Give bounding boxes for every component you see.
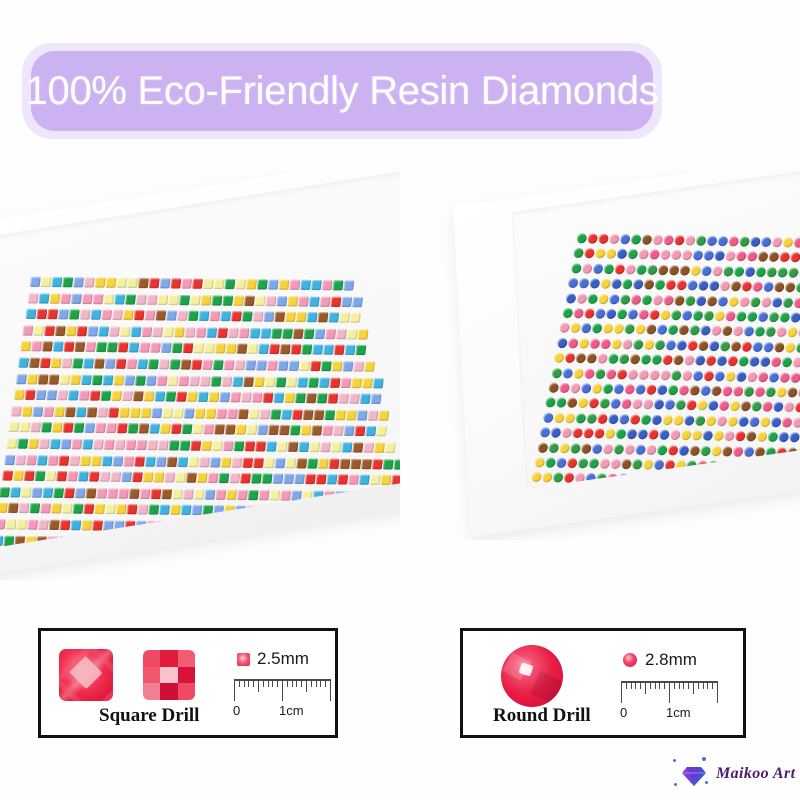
drill-row	[9, 422, 388, 438]
drill-bead	[189, 521, 200, 531]
drill-bead	[772, 237, 783, 247]
drill-bead	[594, 428, 605, 438]
drill-bead	[338, 394, 349, 404]
drill-bead	[101, 456, 112, 466]
drill-bead	[174, 327, 185, 337]
ruler-minor-tick	[703, 681, 704, 689]
drill-bead	[114, 521, 125, 531]
drill-bead	[349, 394, 360, 404]
drill-bead	[246, 506, 257, 516]
drill-bead	[706, 296, 717, 306]
drill-bead	[676, 400, 687, 410]
drill-bead	[649, 370, 660, 380]
square-gem-faceted-icon	[59, 649, 113, 701]
drill-bead	[391, 475, 400, 485]
drill-bead	[671, 250, 682, 260]
drill-bead	[80, 455, 91, 465]
drill-bead	[124, 375, 135, 385]
gem-facet-cell	[160, 683, 177, 700]
drill-bead	[156, 375, 167, 385]
drill-bead	[257, 425, 268, 435]
drill-bead	[592, 323, 603, 333]
drill-bead	[186, 473, 197, 483]
drill-bead	[316, 393, 327, 403]
drill-bead	[308, 523, 319, 533]
drill-row	[20, 341, 366, 356]
drill-bead	[184, 408, 195, 418]
drill-bead	[50, 439, 61, 449]
drill-bead	[580, 443, 591, 453]
drill-bead	[286, 377, 297, 387]
drill-bead	[67, 471, 78, 481]
drill-bead	[181, 505, 192, 515]
drill-bead	[746, 431, 757, 441]
drill-bead	[257, 279, 268, 289]
drill-bead	[42, 342, 53, 352]
ruler-minor-tick	[688, 681, 689, 689]
drill-bead	[610, 459, 621, 469]
drill-bead	[537, 442, 548, 452]
drill-bead	[272, 474, 283, 484]
drill-bead	[557, 338, 568, 348]
drill-bead	[747, 312, 758, 322]
drill-bead	[760, 417, 771, 427]
drill-bead	[567, 458, 578, 468]
drill-bead	[17, 438, 28, 448]
drill-bead	[149, 424, 160, 434]
drill-bead	[762, 462, 773, 472]
drill-bead	[785, 282, 796, 292]
drill-bead	[721, 446, 732, 456]
drill-bead	[356, 491, 367, 501]
drill-bead	[587, 233, 598, 243]
drill-bead	[553, 413, 564, 423]
drill-bead	[641, 354, 652, 364]
drill-bead	[598, 294, 609, 304]
drill-bead	[180, 359, 191, 369]
drill-bead	[53, 342, 64, 352]
drill-bead	[362, 523, 373, 533]
drill-bead	[371, 540, 382, 549]
drill-bead	[77, 326, 88, 336]
drill-bead	[62, 504, 73, 514]
drill-bead	[561, 488, 572, 489]
drill-bead	[692, 310, 703, 320]
drill-bead	[687, 340, 698, 350]
drill-bead	[276, 522, 287, 532]
ruler-minor-tick	[712, 681, 713, 689]
round-size-swatch-icon	[623, 653, 637, 667]
drill-bead	[307, 458, 318, 468]
drill-bead	[386, 507, 397, 517]
drill-bead	[165, 537, 176, 547]
drill-bead	[687, 280, 698, 290]
drill-bead	[706, 356, 717, 366]
drill-bead	[749, 297, 760, 307]
drill-bead	[562, 308, 573, 318]
drill-bead	[283, 474, 294, 484]
drill-bead	[545, 397, 556, 407]
drill-bead	[667, 445, 678, 455]
drill-bead	[372, 459, 383, 469]
drill-bead	[264, 377, 275, 387]
drill-bead	[725, 251, 736, 261]
drill-bead	[200, 522, 211, 532]
drill-bead	[598, 234, 609, 244]
drill-bead	[338, 539, 349, 549]
drill-bead	[37, 455, 48, 465]
drill-bead	[649, 310, 660, 320]
drill-bead	[265, 522, 276, 532]
drill-bead	[605, 369, 616, 379]
drill-bead	[616, 429, 627, 439]
drill-bead	[38, 520, 49, 530]
drill-bead	[157, 521, 168, 531]
drill-bead	[70, 374, 81, 384]
drill-bead	[315, 474, 326, 484]
drill-bead	[322, 280, 333, 290]
drill-bead	[94, 358, 105, 368]
drill-bead	[68, 309, 79, 319]
drill-bead	[73, 504, 84, 514]
drill-bead	[673, 415, 684, 425]
drill-bead	[575, 413, 586, 423]
drill-bead	[310, 361, 321, 371]
drill-bead	[2, 471, 13, 481]
drill-bead	[214, 425, 225, 435]
drill-bead	[112, 310, 123, 320]
drill-bead	[144, 537, 155, 547]
drill-bead	[787, 387, 798, 397]
drill-bead	[46, 390, 57, 400]
drill-bead	[531, 472, 542, 482]
drill-bead	[779, 372, 790, 382]
drill-bead	[763, 342, 774, 352]
drill-bead	[328, 539, 339, 549]
drill-bead	[226, 344, 237, 354]
ruler-minor-tick	[635, 681, 636, 689]
diamond-icon	[678, 761, 708, 789]
drill-bead	[636, 264, 647, 274]
drill-bead	[240, 473, 251, 483]
drill-bead	[611, 279, 622, 289]
drill-bead	[324, 491, 335, 501]
drill-bead	[330, 296, 341, 306]
ruler-minor-tick	[301, 679, 302, 687]
drill-bead	[118, 342, 129, 352]
drill-bead	[684, 295, 695, 305]
drill-bead	[30, 277, 41, 287]
drill-bead	[36, 536, 47, 546]
drill-bead	[611, 339, 622, 349]
drill-bead	[148, 359, 159, 369]
drill-bead	[351, 523, 362, 533]
drill-bead	[795, 402, 800, 412]
drill-bead	[95, 277, 106, 287]
drill-bead	[754, 387, 765, 397]
drill-bead	[114, 294, 125, 304]
drill-bead	[302, 490, 313, 500]
drill-bead	[782, 237, 793, 247]
drill-bead	[735, 371, 746, 381]
drill-bead	[320, 442, 331, 452]
drill-bead	[279, 425, 290, 435]
drill-bead	[270, 490, 281, 500]
drill-bead	[781, 417, 792, 427]
drill-bead	[34, 471, 45, 481]
drill-bead	[122, 391, 133, 401]
drill-bead	[744, 266, 755, 276]
drill-row	[30, 277, 355, 292]
drill-bead	[621, 399, 632, 409]
drill-bead	[333, 426, 344, 436]
drill-bead	[280, 490, 291, 500]
drill-bead	[781, 477, 792, 487]
drill-bead	[102, 375, 113, 385]
drill-bead	[583, 428, 594, 438]
drill-bead	[622, 339, 633, 349]
drill-bead	[645, 444, 656, 454]
drill-bead	[564, 473, 575, 483]
drill-bead	[662, 475, 673, 485]
drill-bead	[771, 297, 782, 307]
drill-bead	[689, 385, 700, 395]
drill-bead	[660, 250, 671, 260]
drill-bead	[673, 355, 684, 365]
drill-bead	[146, 375, 157, 385]
drill-bead	[729, 461, 740, 471]
drill-bead	[115, 359, 126, 369]
drill-bead	[100, 537, 111, 547]
drill-bead	[759, 477, 770, 487]
drill-bead	[244, 295, 255, 305]
drill-bead	[733, 386, 744, 396]
ruler-minor-tick	[645, 681, 646, 694]
drill-bead	[349, 313, 360, 323]
drill-bead	[665, 280, 676, 290]
drill-bead	[713, 431, 724, 441]
drill-bead	[186, 392, 197, 402]
drill-bead	[766, 327, 777, 337]
drill-bead	[613, 444, 624, 454]
drill-bead	[706, 236, 717, 246]
drill-bead	[591, 443, 602, 453]
drill-bead	[576, 293, 587, 303]
drill-bead	[586, 413, 597, 423]
drill-bead	[630, 294, 641, 304]
round-drill-label: Round Drill	[493, 705, 591, 727]
drill-bead	[343, 507, 354, 517]
drill-bead	[743, 386, 754, 396]
drill-bead	[640, 414, 651, 424]
drill-bead	[671, 310, 682, 320]
drill-bead	[231, 311, 242, 321]
drill-bead	[25, 309, 36, 319]
drill-bead	[614, 324, 625, 334]
drill-bead	[358, 329, 369, 339]
drill-bead	[198, 538, 209, 548]
drill-bead	[250, 328, 261, 338]
ruler-minor-tick	[316, 679, 317, 687]
spec-box-round-drill: 2.8mm 0 1cm Round Drill	[460, 628, 746, 738]
ruler-minor-tick	[268, 679, 269, 687]
ruler-minor-tick	[698, 681, 699, 689]
drill-bead	[534, 457, 545, 467]
drill-bead	[678, 385, 689, 395]
drill-bead	[346, 410, 357, 420]
drill-bead	[41, 423, 52, 433]
ruler-minor-tick	[640, 681, 641, 689]
drill-bead	[94, 504, 105, 514]
drill-bead	[36, 309, 47, 319]
drill-bead	[146, 521, 157, 531]
drill-bead	[554, 353, 565, 363]
drill-bead	[335, 410, 346, 420]
drill-bead	[378, 491, 389, 501]
drill-bead	[207, 327, 218, 337]
tray-right	[453, 170, 800, 537]
drill-bead	[285, 458, 296, 468]
drill-bead	[326, 329, 337, 339]
drill-bead	[57, 390, 68, 400]
drill-bead	[220, 457, 231, 467]
drill-bead	[568, 278, 579, 288]
drill-bead	[104, 439, 115, 449]
drill-bead	[692, 430, 703, 440]
drill-bead	[339, 458, 350, 468]
drill-bead	[395, 524, 400, 534]
ruler-round	[621, 681, 717, 707]
header-banner-fill: 100% Eco-Friendly Resin Diamonds	[31, 51, 653, 131]
drill-bead	[189, 376, 200, 386]
drill-bead	[789, 432, 800, 442]
drill-bead	[738, 416, 749, 426]
drill-bead	[93, 439, 104, 449]
drill-bead	[656, 445, 667, 455]
drill-row	[531, 472, 800, 489]
drill-bead	[303, 409, 314, 419]
drill-bead	[88, 472, 99, 482]
drill-bead	[185, 327, 196, 337]
drill-bead	[676, 340, 687, 350]
drill-bead	[586, 353, 597, 363]
drill-bead	[382, 459, 393, 469]
drill-bead	[608, 354, 619, 364]
drill-bead	[254, 522, 265, 532]
drill-bead	[366, 426, 377, 436]
drill-bead	[300, 280, 311, 290]
drill-bead	[265, 296, 276, 306]
drill-bead	[325, 410, 336, 420]
drill-bead	[635, 384, 646, 394]
drill-bead	[81, 520, 92, 530]
drill-bead	[143, 391, 154, 401]
drill-bead	[302, 345, 313, 355]
drill-bead	[657, 385, 668, 395]
drill-bead	[84, 423, 95, 433]
drill-bead	[235, 279, 246, 289]
drill-bead	[44, 325, 55, 335]
drill-bead	[592, 263, 603, 273]
drill-bead	[736, 311, 747, 321]
drill-bead	[619, 414, 630, 424]
drill-bead	[255, 295, 266, 305]
drill-bead	[312, 345, 323, 355]
drill-bead	[600, 339, 611, 349]
drill-bead	[87, 407, 98, 417]
drill-bead	[129, 488, 140, 498]
drill-bead	[314, 409, 325, 419]
ruler-minor-tick	[277, 679, 278, 687]
drill-bead	[242, 457, 253, 467]
drill-bead	[648, 429, 659, 439]
ruler-minor-tick	[693, 681, 694, 694]
drill-bead	[158, 440, 169, 450]
drill-bead	[243, 376, 254, 386]
drill-bead	[668, 325, 679, 335]
drill-bead	[142, 472, 153, 482]
drill-bead	[762, 402, 773, 412]
drill-row	[0, 535, 400, 549]
drill-bead	[632, 399, 643, 409]
drill-bead	[92, 520, 103, 530]
drill-bead	[399, 491, 400, 501]
drill-bead	[136, 294, 147, 304]
drill-bead	[233, 441, 244, 451]
drill-bead	[727, 356, 738, 366]
drill-bead	[271, 409, 282, 419]
drill-bead	[131, 472, 142, 482]
drill-bead	[694, 475, 705, 485]
drill-bead	[565, 353, 576, 363]
drill-bead	[570, 323, 581, 333]
drill-bead	[60, 439, 71, 449]
drill-bead	[345, 345, 356, 355]
drill-bead	[336, 329, 347, 339]
drill-bead	[359, 475, 370, 485]
drill-bead	[795, 462, 800, 472]
drill-bead	[215, 344, 226, 354]
drill-bead	[230, 538, 241, 548]
drill-bead	[738, 356, 749, 366]
drill-bead	[684, 415, 695, 425]
drill-bead	[570, 383, 581, 393]
drill-bead	[326, 474, 337, 484]
drill-bead	[61, 358, 72, 368]
drill-bead	[14, 536, 25, 546]
drill-bead	[216, 489, 227, 499]
sparkle-icon	[705, 781, 708, 784]
drill-bead	[6, 438, 17, 448]
drill-bead	[607, 474, 618, 484]
drill-bead	[328, 312, 339, 322]
drill-bead	[224, 360, 235, 370]
drill-bead	[631, 234, 642, 244]
drill-bead	[15, 455, 26, 465]
drill-bead	[6, 519, 17, 529]
drill-bead	[173, 408, 184, 418]
drill-bead	[111, 391, 122, 401]
drill-bead	[161, 343, 172, 353]
drill-bead	[565, 293, 576, 303]
drill-bead	[74, 423, 85, 433]
tray-left	[0, 170, 400, 577]
drill-bead	[712, 266, 723, 276]
drill-bead	[115, 440, 126, 450]
drill-bead	[241, 538, 252, 548]
drill-bead	[106, 278, 117, 288]
drill-bead	[357, 410, 368, 420]
